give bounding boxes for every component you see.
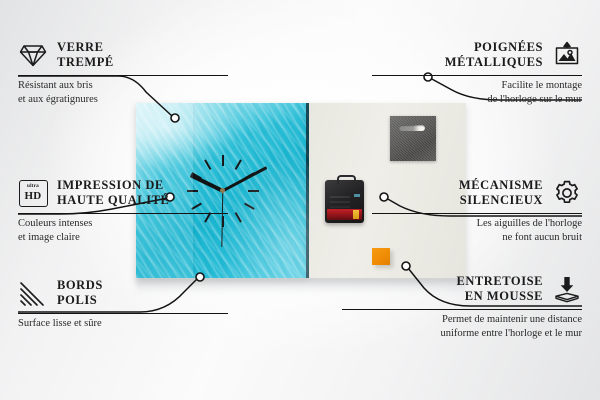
callout-entretoise-en-mousse[interactable]: ENTRETOISE EN MOUSSE Permet de maintenir… (342, 272, 582, 341)
callout-divider (18, 75, 228, 76)
callout-poignees-metalliques[interactable]: POIGNÉES MÉTALLIQUES Facilite le montage… (372, 38, 582, 107)
callout-impression-haute-qualite[interactable]: ultra HD IMPRESSION DE HAUTE QUALITÉ Cou… (18, 176, 228, 245)
clock-mechanism (325, 180, 364, 223)
callout-divider (372, 75, 582, 76)
foam-spacer (372, 248, 390, 265)
callout-header: POIGNÉES MÉTALLIQUES (372, 38, 582, 72)
callout-title: POIGNÉES MÉTALLIQUES (445, 40, 543, 70)
callout-subtitle: Facilite le montage de l'horloge sur le … (372, 79, 582, 107)
callout-verre-trempe[interactable]: VERRE TREMPÉ Résistant aux bris et aux é… (18, 38, 228, 107)
callout-header: ultra HD IMPRESSION DE HAUTE QUALITÉ (18, 176, 228, 210)
badge-main-text: HD (24, 191, 41, 202)
callout-header: ENTRETOISE EN MOUSSE (342, 272, 582, 306)
callout-title: VERRE TREMPÉ (57, 40, 114, 70)
callout-bords-polis[interactable]: BORDS POLIS Surface lisse et sûre (18, 276, 228, 331)
callout-title: ENTRETOISE EN MOUSSE (456, 274, 543, 304)
callout-header: VERRE TREMPÉ (18, 38, 228, 72)
mechanism-chip (354, 194, 360, 197)
mechanism-battery (327, 209, 362, 220)
callout-header: BORDS POLIS (18, 276, 228, 310)
framed-picture-icon (552, 40, 582, 70)
callout-subtitle: Permet de maintenir une distance uniform… (342, 313, 582, 341)
foam-spacer-icon (552, 274, 582, 304)
callout-title: MÉCANISME SILENCIEUX (459, 178, 543, 208)
mechanism-vents (330, 196, 350, 198)
diamond-icon (18, 40, 48, 70)
callout-divider (18, 213, 228, 214)
callout-title: IMPRESSION DE HAUTE QUALITÉ (57, 178, 169, 208)
hanger-keyhole-slot (399, 125, 425, 131)
callout-subtitle: Résistant aux bris et aux égratignures (18, 79, 228, 107)
callout-divider (372, 213, 582, 214)
callout-title: BORDS POLIS (57, 278, 103, 308)
infographic-canvas: VERRE TREMPÉ Résistant aux bris et aux é… (0, 0, 600, 400)
callout-mecanisme-silencieux[interactable]: MÉCANISME SILENCIEUX Les aiguilles de l'… (372, 176, 582, 245)
polished-edge-icon (18, 278, 48, 308)
callout-subtitle: Couleurs intenses et image claire (18, 217, 228, 245)
mechanism-hook (337, 175, 356, 185)
gear-icon (552, 178, 582, 208)
callout-subtitle: Surface lisse et sûre (18, 317, 228, 331)
ultra-hd-badge-icon: ultra HD (18, 178, 48, 208)
callout-divider (18, 313, 228, 314)
callout-subtitle: Les aiguilles de l'horloge ne font aucun… (372, 217, 582, 245)
metal-hanger-plate (390, 116, 436, 161)
callout-header: MÉCANISME SILENCIEUX (372, 176, 582, 210)
badge-top-text: ultra (27, 184, 39, 189)
clock-minute-hand (222, 166, 268, 192)
callout-divider (342, 309, 582, 310)
